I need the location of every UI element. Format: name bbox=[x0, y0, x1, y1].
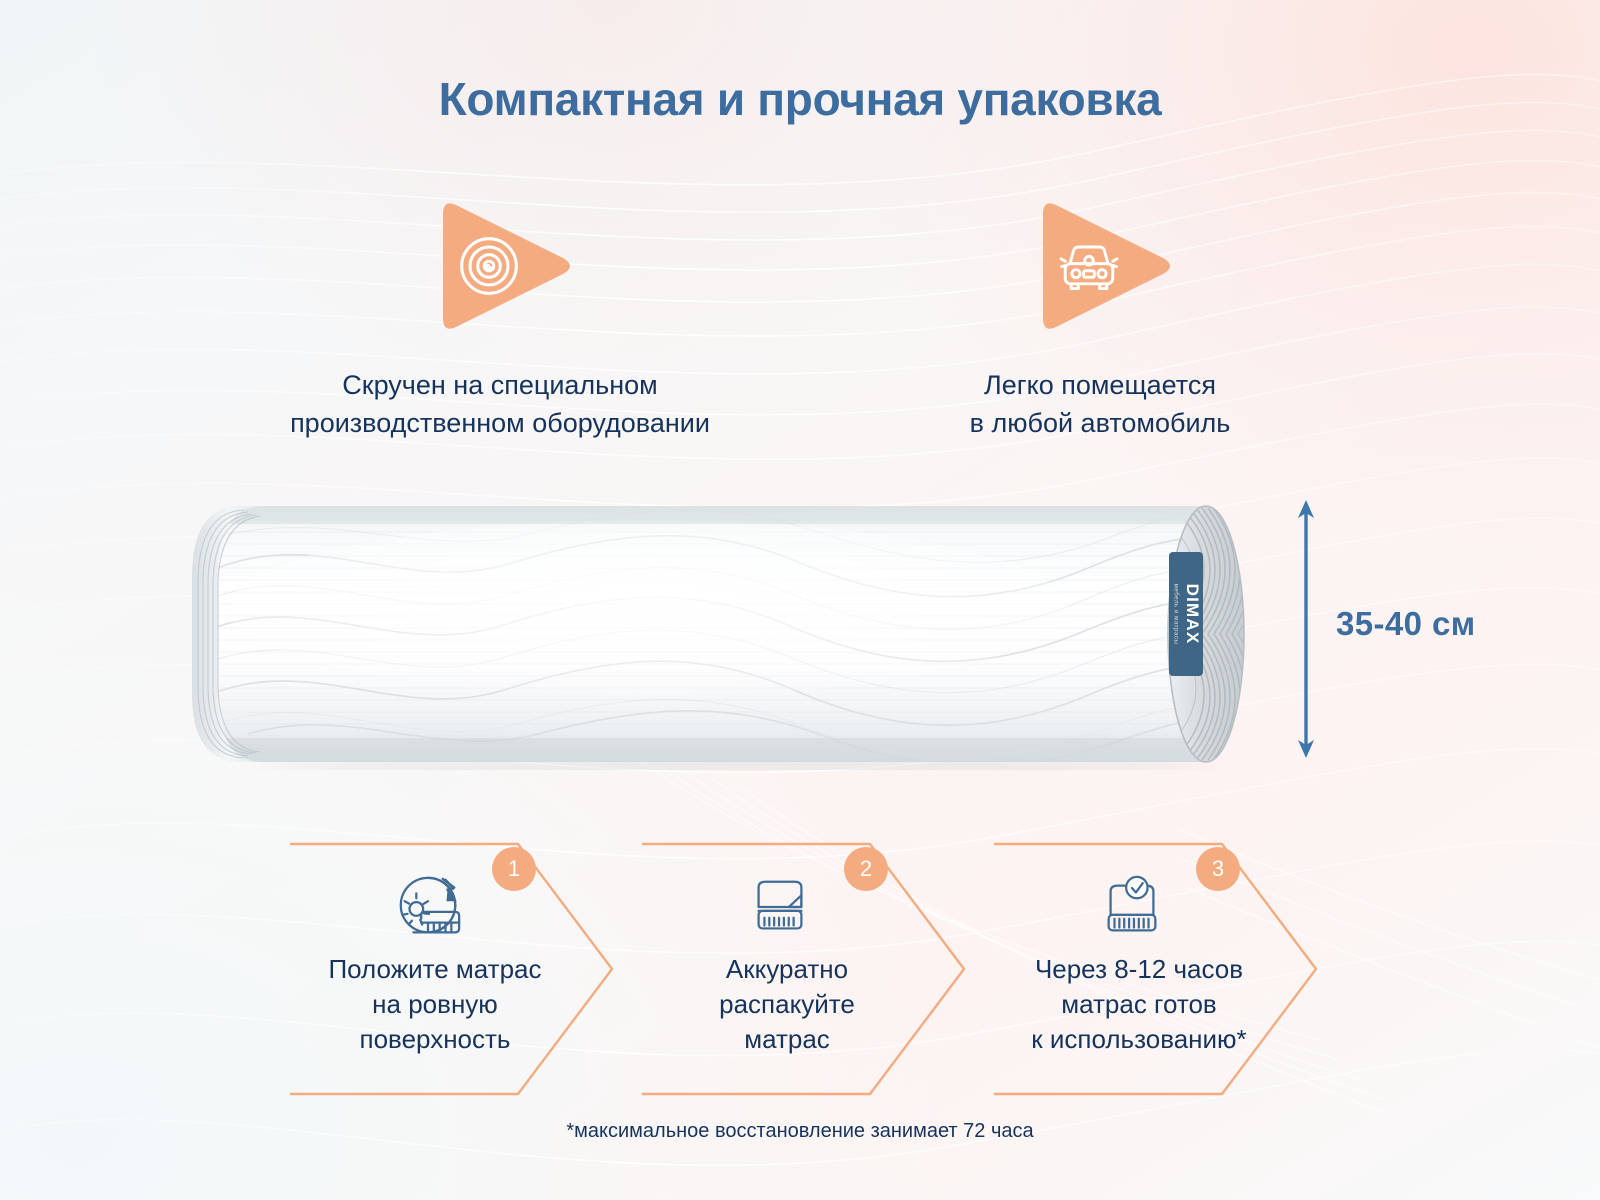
step-caption-1-line2: на ровную bbox=[290, 987, 580, 1022]
dimension-label: 35-40 см bbox=[1336, 605, 1476, 643]
feature-block-rolled: Скручен на специальном производственном … bbox=[190, 196, 810, 443]
feature-block-car: Легко помещается в любой автомобиль bbox=[860, 196, 1340, 443]
step-caption-1-line1: Положите матрас bbox=[290, 952, 580, 987]
step-caption-1: Положите матрас на ровную поверхность bbox=[290, 952, 580, 1057]
feature-caption-2-line2: в любой автомобиль bbox=[860, 404, 1340, 442]
mattress-ready-check-icon bbox=[1093, 872, 1171, 944]
steps-row: 1 Положите матрас на ровную bbox=[290, 840, 1320, 1098]
rolled-mattress-icon bbox=[389, 872, 467, 944]
step-number-badge-2: 2 bbox=[844, 847, 888, 891]
step-card-3: 3 Через 8-12 часов матрас готов к исполь… bbox=[994, 840, 1354, 1098]
feature-caption-1: Скручен на специальном производственном … bbox=[190, 366, 810, 443]
step-caption-2-line2: распакуйте bbox=[642, 987, 932, 1022]
vertical-double-arrow-icon bbox=[1288, 498, 1324, 760]
feature-caption-2-line1: Легко помещается bbox=[860, 366, 1340, 404]
brand-tag-text: DIMAX bbox=[1183, 584, 1202, 645]
page-title: Компактная и прочная упаковка bbox=[0, 72, 1600, 126]
car-icon bbox=[1051, 228, 1127, 304]
feature-caption-1-line2: производственном оборудовании bbox=[190, 404, 810, 442]
feature-caption-2: Легко помещается в любой автомобиль bbox=[860, 366, 1340, 443]
brand-tag-subtext: мебель и матрасы bbox=[1173, 584, 1180, 645]
spiral-roll-icon bbox=[451, 228, 527, 304]
step-caption-1-line3: поверхность bbox=[290, 1022, 580, 1057]
step-caption-3-line2: матрас готов bbox=[994, 987, 1284, 1022]
step-caption-3-line3: к использованию* bbox=[994, 1022, 1284, 1057]
brand-tag: DIMAX мебель и матрасы bbox=[1169, 552, 1203, 676]
step-caption-2-line3: матрас bbox=[642, 1022, 932, 1057]
footnote-text: *максимальное восстановление занимает 72… bbox=[0, 1120, 1600, 1143]
step-caption-2: Аккуратно распакуйте матрас bbox=[642, 952, 932, 1057]
step-number-badge-3: 3 bbox=[1196, 847, 1240, 891]
feature-caption-1-line1: Скручен на специальном bbox=[190, 366, 810, 404]
step-card-1: 1 Положите матрас на ровную bbox=[290, 840, 650, 1098]
feature-icon-badge-1 bbox=[425, 196, 575, 336]
step-caption-3-line1: Через 8-12 часов bbox=[994, 952, 1284, 987]
infographic-canvas: Компактная и прочная упаковка Скручен на… bbox=[0, 0, 1600, 1200]
step-caption-3: Через 8-12 часов матрас готов к использо… bbox=[994, 952, 1284, 1057]
step-card-2: 2 Аккуратно распакуйте матрас bbox=[642, 840, 1002, 1098]
unwrap-mattress-icon bbox=[741, 872, 819, 944]
rolled-mattress-product-image: DIMAX мебель и матрасы bbox=[178, 498, 1268, 770]
step-caption-2-line1: Аккуратно bbox=[642, 952, 932, 987]
feature-icon-badge-2 bbox=[1025, 196, 1175, 336]
step-number-badge-1: 1 bbox=[492, 847, 536, 891]
